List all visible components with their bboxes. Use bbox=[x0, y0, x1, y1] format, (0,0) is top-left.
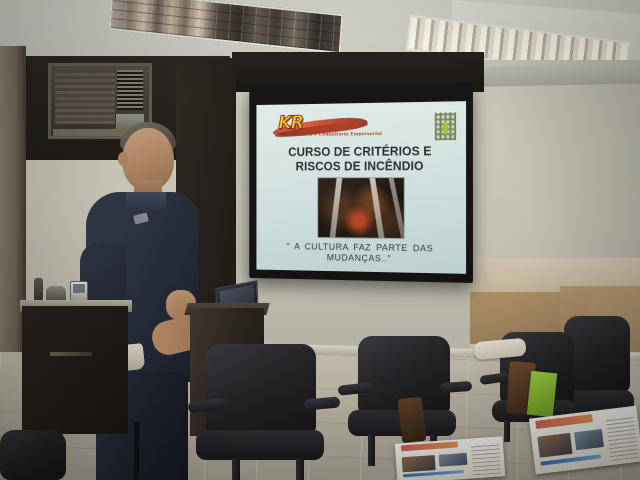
counter-drawer-handle bbox=[50, 352, 92, 356]
ac-vent-icon bbox=[117, 70, 143, 110]
brochure-photo bbox=[439, 452, 468, 467]
chair bbox=[192, 344, 344, 480]
photo-scene: KR Assessoria e Consultoria Empresarial … bbox=[0, 0, 640, 480]
brochure-headline bbox=[401, 442, 457, 451]
leather-bag bbox=[398, 397, 426, 443]
chair-armrest bbox=[304, 396, 341, 410]
projection-screen: KR Assessoria e Consultoria Empresarial … bbox=[249, 83, 473, 283]
photo-streak bbox=[369, 177, 386, 239]
presenter-ear bbox=[118, 152, 128, 166]
slide-badge-logo bbox=[433, 112, 457, 142]
brochure bbox=[395, 436, 506, 480]
photo-streak bbox=[388, 177, 405, 239]
slide-photo bbox=[317, 177, 405, 239]
logo-tagline: Assessoria e Consultoria Empresarial bbox=[286, 133, 371, 139]
brochure-photo bbox=[538, 433, 573, 458]
kr-logo: KR Assessoria e Consultoria Empresarial bbox=[272, 111, 371, 142]
badge-figure-icon bbox=[442, 122, 448, 135]
slide-caption: “ A CULTURA FAZ PARTE DAS MUDANÇAS..” bbox=[268, 240, 452, 265]
green-folder bbox=[527, 371, 557, 417]
counter-bottle bbox=[34, 278, 43, 302]
chair-leg bbox=[504, 420, 510, 442]
brochure-text-lines bbox=[471, 443, 501, 475]
chair-seat bbox=[196, 430, 324, 460]
slide-title: CURSO DE CRITÉRIOS E RISCOS DE INCÊNDIO bbox=[266, 144, 455, 173]
telephone-display bbox=[73, 284, 85, 293]
brochure-photo bbox=[574, 429, 604, 450]
chair bbox=[0, 430, 70, 480]
chair-back bbox=[206, 344, 316, 436]
chair-leg bbox=[296, 458, 304, 480]
chair-back bbox=[0, 430, 66, 480]
ac-filter-grille bbox=[55, 70, 115, 124]
brochure-text-lines bbox=[605, 415, 638, 461]
presenter-leg-gap bbox=[134, 422, 139, 480]
brochure-photo bbox=[402, 455, 435, 472]
chair-leg bbox=[232, 458, 240, 480]
chair-armrest bbox=[440, 381, 473, 393]
presenter-collar bbox=[126, 192, 166, 214]
photo-streak bbox=[329, 177, 344, 239]
chair-leg bbox=[368, 434, 375, 466]
slide-surface: KR Assessoria e Consultoria Empresarial … bbox=[256, 101, 466, 274]
brochure-headline bbox=[536, 414, 593, 428]
counter-cabinet bbox=[22, 306, 128, 434]
